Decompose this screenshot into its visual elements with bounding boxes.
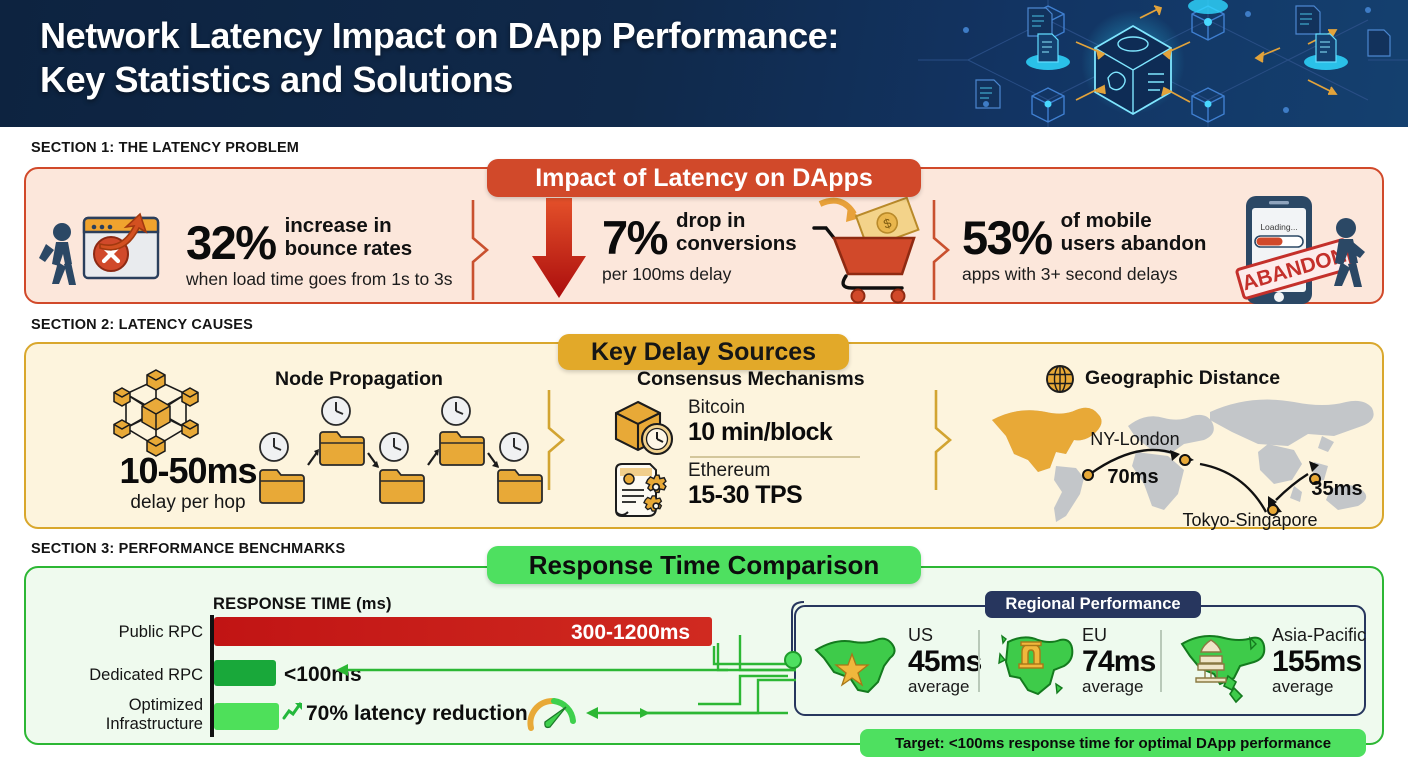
chart-axis-line	[210, 615, 214, 737]
contract-gears-icon	[614, 462, 676, 520]
target-callout-pill: Target: <100ms response time for optimal…	[860, 729, 1366, 757]
region-value: 45ms	[908, 645, 982, 678]
stat-sub: when load time goes from 1s to 3s	[186, 269, 453, 290]
region-item-asia-pacific: Asia-Pacific 155ms average	[1176, 612, 1366, 710]
blockchain-network-icon	[928, 0, 1408, 127]
connector-junction-dot	[782, 649, 804, 671]
bar-label-public-rpc: Public RPC	[48, 623, 203, 642]
region-name: EU	[1082, 626, 1156, 645]
consensus-name: Bitcoin	[688, 398, 832, 418]
section-1-label: SECTION 1: THE LATENCY PROBLEM	[31, 140, 299, 156]
gauge-icon	[528, 697, 578, 731]
geo-route-latency-0: 70ms	[1107, 466, 1158, 488]
region-value: 155ms	[1272, 645, 1366, 678]
consensus-title: Consensus Mechanisms	[637, 368, 865, 391]
section-2-title-pill: Key Delay Sources	[558, 334, 849, 370]
bar-value-public-rpc: 300-1200ms	[571, 621, 690, 645]
geo-title: Geographic Distance	[1085, 367, 1280, 390]
stat-value: 53%	[962, 216, 1052, 259]
divider-chevron	[931, 200, 953, 300]
stat-value: 32%	[186, 221, 276, 264]
divider-chevron	[546, 390, 568, 490]
region-unit: average	[1272, 678, 1366, 696]
stat-lines: of mobile users abandon	[1061, 210, 1207, 256]
page-title: Network Latency Impact on DApp Performan…	[40, 14, 839, 102]
phone-loading-label: Loading...	[1260, 222, 1297, 232]
section-1-title-pill: Impact of Latency on DApps	[487, 159, 921, 197]
trend-up-icon	[282, 700, 304, 722]
region-value: 74ms	[1082, 645, 1156, 678]
region-separator	[1160, 630, 1162, 692]
blockchain-nodes-icon	[106, 368, 206, 458]
connector-bracket	[700, 612, 802, 732]
consensus-name: Ethereum	[688, 461, 802, 481]
geo-route-label-0: NY-London	[1090, 429, 1179, 449]
stat-lines: increase in bounce rates	[285, 215, 413, 261]
phone-abandon-stamp-icon: Loading... ABANDON	[1222, 194, 1387, 306]
region-unit: average	[908, 678, 982, 696]
down-arrow-icon	[528, 196, 590, 302]
node-propagation-title: Node Propagation	[275, 368, 443, 391]
bar-label-optimized-infrastructure: Optimized Infrastructure	[30, 696, 203, 734]
block-clock-icon	[614, 400, 676, 458]
stat-sub: apps with 3+ second delays	[962, 264, 1206, 285]
geo-route-latency-1: 35ms	[1311, 478, 1362, 500]
section-2-label: SECTION 2: LATENCY CAUSES	[31, 317, 253, 333]
us-map-star-icon	[812, 634, 904, 696]
region-separator	[978, 630, 980, 692]
stat-sub: per 100ms delay	[602, 264, 797, 285]
consensus-value: 15-30 TPS	[688, 481, 802, 510]
region-item-eu: EU 74ms average	[996, 612, 1156, 710]
connector-arrow-dedicated	[330, 660, 730, 680]
bar-value-optimized-infrastructure: 70% latency reduction	[306, 702, 528, 726]
bar-dedicated-rpc	[214, 660, 276, 686]
browser-error-walking-away-icon	[40, 196, 175, 301]
bar-optimized-infrastructure	[214, 703, 279, 730]
consensus-row-bitcoin: Bitcoin 10 min/block	[688, 398, 832, 447]
section-3-title-pill: Response Time Comparison	[487, 546, 921, 584]
geo-route-label-1: Tokyo-Singapore	[1182, 510, 1317, 530]
world-latency-map: NY-London 70ms Tokyo-Singapore 35ms	[978, 390, 1383, 526]
stat-block-3: 53% of mobile users abandon apps with 3+…	[962, 210, 1206, 285]
section-3-label: SECTION 3: PERFORMANCE BENCHMARKS	[31, 541, 345, 557]
stat-block-2: 7% drop in conversions per 100ms delay	[602, 210, 797, 285]
chart-axis-title: RESPONSE TIME (ms)	[213, 595, 392, 614]
stat-block-1: 32% increase in bounce rates when load t…	[186, 215, 453, 290]
regional-performance-pill: Regional Performance	[985, 591, 1201, 618]
divider-chevron	[470, 200, 492, 300]
region-unit: average	[1082, 678, 1156, 696]
page-header: Network Latency Impact on DApp Performan…	[0, 0, 1408, 127]
divider-chevron	[933, 390, 955, 490]
asia-map-temple-icon	[1176, 630, 1268, 704]
eu-map-arch-icon	[996, 632, 1078, 698]
stat-value: 7%	[602, 216, 667, 259]
cart-money-icon: $	[810, 196, 925, 304]
region-name: US	[908, 626, 982, 645]
region-item-us: US 45ms average	[812, 612, 982, 710]
divider-line	[690, 456, 860, 458]
region-name: Asia-Pacific	[1272, 626, 1366, 645]
bar-label-dedicated-rpc: Dedicated RPC	[48, 666, 203, 685]
stat-lines: drop in conversions	[676, 210, 797, 256]
consensus-row-ethereum: Ethereum 15-30 TPS	[688, 461, 802, 510]
folder-clock-chain-icon	[252, 395, 542, 510]
consensus-value: 10 min/block	[688, 418, 832, 447]
